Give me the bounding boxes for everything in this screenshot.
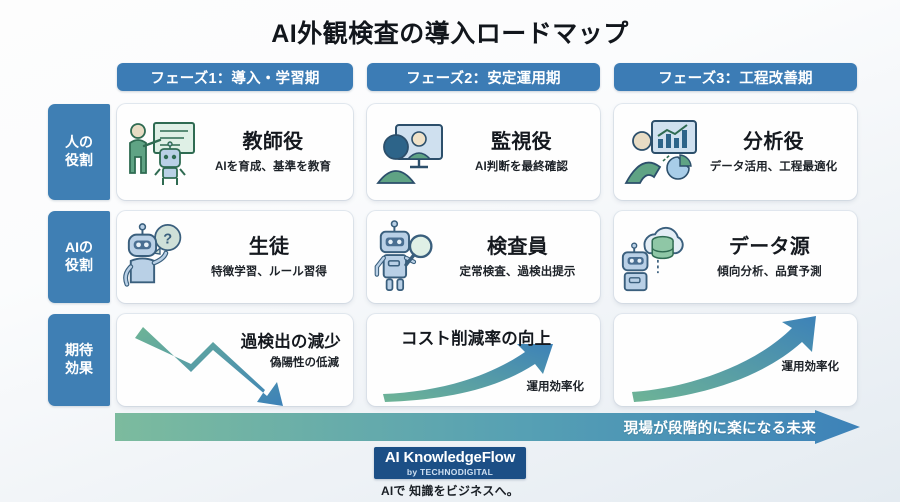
svg-text:?: ?: [163, 231, 172, 247]
card-subtitle: AIを育成、基準を教育: [203, 158, 343, 174]
roadmap-infographic: AI外観検査の導入ロードマップ フェーズ1：導入・学習期 フェーズ2：安定運用期…: [0, 0, 900, 502]
person-chart-pie-icon: [620, 117, 700, 187]
logo-main-text: AI KnowledgeFlow: [385, 450, 515, 465]
row-label-ai-role: AIの 役割: [48, 211, 110, 303]
row-label-line2: 効果: [65, 360, 93, 378]
effect-subtitle: 偽陽性の低減: [270, 354, 339, 370]
card-title: 検査員: [445, 236, 590, 258]
row-label-human-role: 人の 役割: [48, 104, 110, 200]
phase-header-row: フェーズ1：導入・学習期 フェーズ2：安定運用期 フェーズ3：工程改善期: [117, 63, 857, 91]
row-label-line2: 役割: [65, 152, 93, 170]
phase-chip-1[interactable]: フェーズ1：導入・学習期: [117, 63, 353, 91]
card-title: 教師役: [203, 131, 343, 153]
teacher-whiteboard-robot-icon: [123, 115, 203, 189]
robot-question-icon: ?: [123, 221, 195, 293]
effect-title: コスト削減率の向上: [401, 325, 551, 349]
phase-chip-3[interactable]: フェーズ3：工程改善期: [614, 63, 857, 91]
card-title: 分析役: [700, 131, 847, 153]
robot-magnifier-icon: [373, 220, 445, 294]
robot-cloud-database-icon: [620, 220, 692, 294]
card-title: 監視役: [453, 131, 590, 153]
card-effect-phase3[interactable]: 運用効率化: [614, 314, 857, 406]
card-subtitle: 定常検査、過検出提示: [445, 263, 590, 279]
card-human-phase3[interactable]: 分析役 データ活用、工程最適化: [614, 104, 857, 200]
row-label-expected-effect: 期待 効果: [48, 314, 110, 406]
row-label-line1: 人の: [65, 134, 93, 152]
footer-tagline: AIで 知識をビジネスへ。: [0, 482, 900, 499]
card-ai-phase3[interactable]: データ源 傾向分析、品質予測: [614, 211, 857, 303]
logo-badge: AI KnowledgeFlow by TECHNODIGITAL: [374, 447, 526, 479]
person-monitor-icon: [373, 117, 453, 187]
effect-title: 過検出の減少: [241, 328, 341, 352]
card-ai-phase2[interactable]: 検査員 定常検査、過検出提示: [367, 211, 600, 303]
card-subtitle: AI判断を最終確認: [453, 158, 590, 174]
card-subtitle: 傾向分析、品質予測: [692, 263, 847, 279]
row-label-line2: 役割: [65, 257, 93, 275]
page-title: AI外観検査の導入ロードマップ: [0, 14, 900, 50]
card-human-phase2[interactable]: 監視役 AI判断を最終確認: [367, 104, 600, 200]
row-label-line1: AIの: [65, 239, 93, 257]
card-title: データ源: [692, 236, 847, 258]
card-ai-phase1[interactable]: ? 生徒 特徴学習、ルール習得: [117, 211, 353, 303]
card-effect-phase1[interactable]: 過検出の減少 偽陽性の低減: [117, 314, 353, 406]
card-title: 生徒: [195, 236, 343, 258]
logo-sub-text: by TECHNODIGITAL: [407, 468, 493, 477]
card-subtitle: データ活用、工程最適化: [700, 158, 847, 174]
bottom-banner-arrow: 現場が段階的に楽になる未来: [115, 410, 860, 444]
effect-subtitle: 運用効率化: [527, 378, 585, 394]
banner-text: 現場が段階的に楽になる未来: [624, 410, 816, 444]
phase-chip-2[interactable]: フェーズ2：安定運用期: [367, 63, 600, 91]
row-label-line1: 期待: [65, 342, 93, 360]
effect-subtitle: 運用効率化: [782, 358, 840, 374]
card-subtitle: 特徴学習、ルール習得: [195, 263, 343, 279]
card-effect-phase2[interactable]: コスト削減率の向上 運用効率化: [367, 314, 600, 406]
card-human-phase1[interactable]: 教師役 AIを育成、基準を教育: [117, 104, 353, 200]
